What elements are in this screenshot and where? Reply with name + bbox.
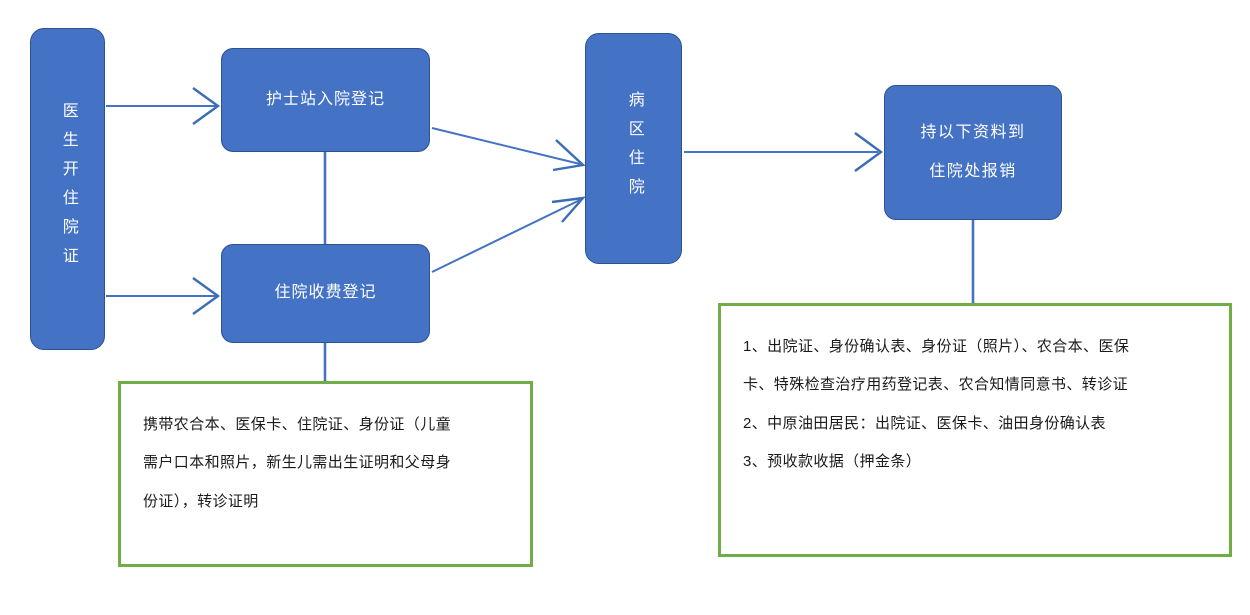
note-admission-documents-line-2: 需户口本和照片，新生儿需出生证明和父母身 — [143, 444, 508, 482]
node-ward-hospitalization-label: 病区住院 — [618, 91, 648, 207]
note-admission-documents-line-3: 份证），转诊证明 — [143, 483, 508, 521]
connector-doctor-to-charge — [106, 278, 218, 314]
note-reimbursement-documents-line-1: 1、出院证、身份确认表、身份证（照片）、农合本、医保 — [743, 328, 1207, 366]
node-reimbursement[interactable]: 持以下资料到 住院处报销 — [884, 85, 1062, 220]
node-inpatient-charge-registration-label: 住院收费登记 — [274, 278, 376, 308]
node-inpatient-charge-registration[interactable]: 住院收费登记 — [221, 244, 430, 343]
node-doctor-order[interactable]: 医生开住院证 — [30, 28, 105, 350]
connector-charge-to-ward — [432, 198, 583, 272]
node-nurse-station-admission[interactable]: 护士站入院登记 — [221, 48, 430, 152]
flowchart-canvas: 医生开住院证 护士站入院登记 住院收费登记 病区住院 持以下资料到 住院处报销 … — [0, 0, 1250, 615]
node-nurse-station-admission-label: 护士站入院登记 — [266, 85, 385, 115]
note-admission-documents-line-1: 携带农合本、医保卡、住院证、身份证（儿童 — [143, 406, 508, 444]
node-reimbursement-label-line2: 住院处报销 — [929, 153, 1017, 191]
note-reimbursement-documents-line-3: 2、中原油田居民：出院证、医保卡、油田身份确认表 — [743, 405, 1207, 443]
node-reimbursement-label-line1: 持以下资料到 — [920, 114, 1025, 152]
node-ward-hospitalization[interactable]: 病区住院 — [585, 33, 682, 264]
connector-doctor-to-nurse — [106, 88, 218, 124]
note-reimbursement-documents: 1、出院证、身份确认表、身份证（照片）、农合本、医保 卡、特殊检查治疗用药登记表… — [718, 303, 1232, 557]
note-reimbursement-documents-line-4: 3、预收款收据（押金条） — [743, 443, 1207, 481]
connector-nurse-to-ward — [432, 128, 583, 170]
connector-ward-to-reimburse — [684, 133, 881, 171]
note-reimbursement-documents-line-2: 卡、特殊检查治疗用药登记表、农合知情同意书、转诊证 — [743, 366, 1207, 404]
node-doctor-order-label: 医生开住院证 — [52, 102, 82, 276]
note-admission-documents: 携带农合本、医保卡、住院证、身份证（儿童 需户口本和照片，新生儿需出生证明和父母… — [118, 381, 533, 567]
